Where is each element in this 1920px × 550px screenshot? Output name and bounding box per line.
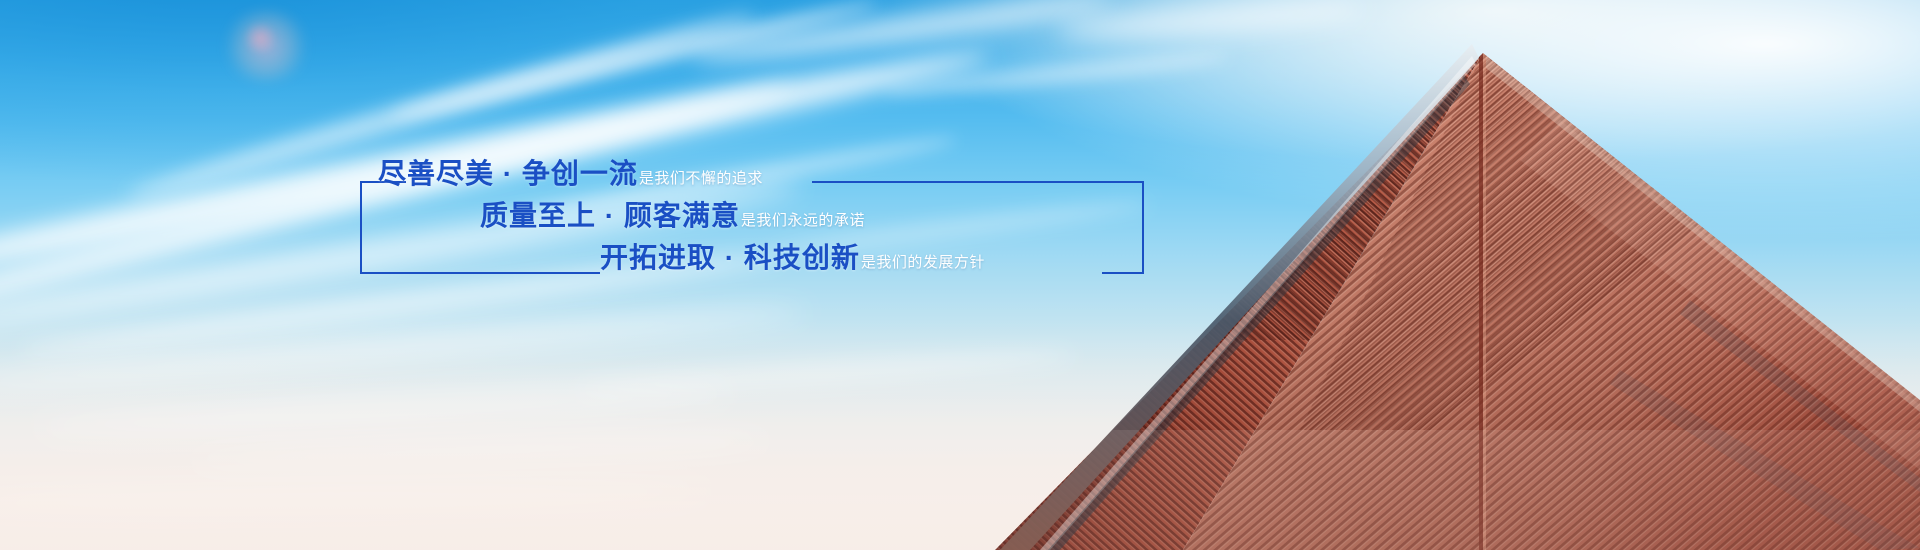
slogan-list: 尽善尽美 · 争创一流 是我们不懈的追求 质量至上 · 顾客满意 是我们永远的承… xyxy=(360,160,1144,272)
slogan-line-1: 尽善尽美 · 争创一流 是我们不懈的追求 xyxy=(360,160,1144,188)
frame-bottom-left-segment xyxy=(360,272,600,274)
slogan-tagline-3: 是我们的发展方针 xyxy=(861,255,985,270)
slogan-line-3: 开拓进取 · 科技创新 是我们的发展方针 xyxy=(360,244,1144,272)
horizon-haze xyxy=(0,319,1920,550)
slogan-tagline-1: 是我们不懈的追求 xyxy=(639,171,763,186)
lens-flare-core xyxy=(242,23,278,53)
banner-stage: 尽善尽美 · 争创一流 是我们不懈的追求 质量至上 · 顾客满意 是我们永远的承… xyxy=(0,0,1920,550)
slogan-tagline-2: 是我们永远的承诺 xyxy=(741,213,865,228)
slogan-headline-2: 质量至上 · 顾客满意 xyxy=(480,202,740,230)
frame-bottom-right-segment xyxy=(1102,272,1144,274)
slogan-headline-1: 尽善尽美 · 争创一流 xyxy=(378,160,638,188)
slogan-line-2: 质量至上 · 顾客满意 是我们永远的承诺 xyxy=(360,202,1144,230)
slogan-headline-3: 开拓进取 · 科技创新 xyxy=(600,244,860,272)
